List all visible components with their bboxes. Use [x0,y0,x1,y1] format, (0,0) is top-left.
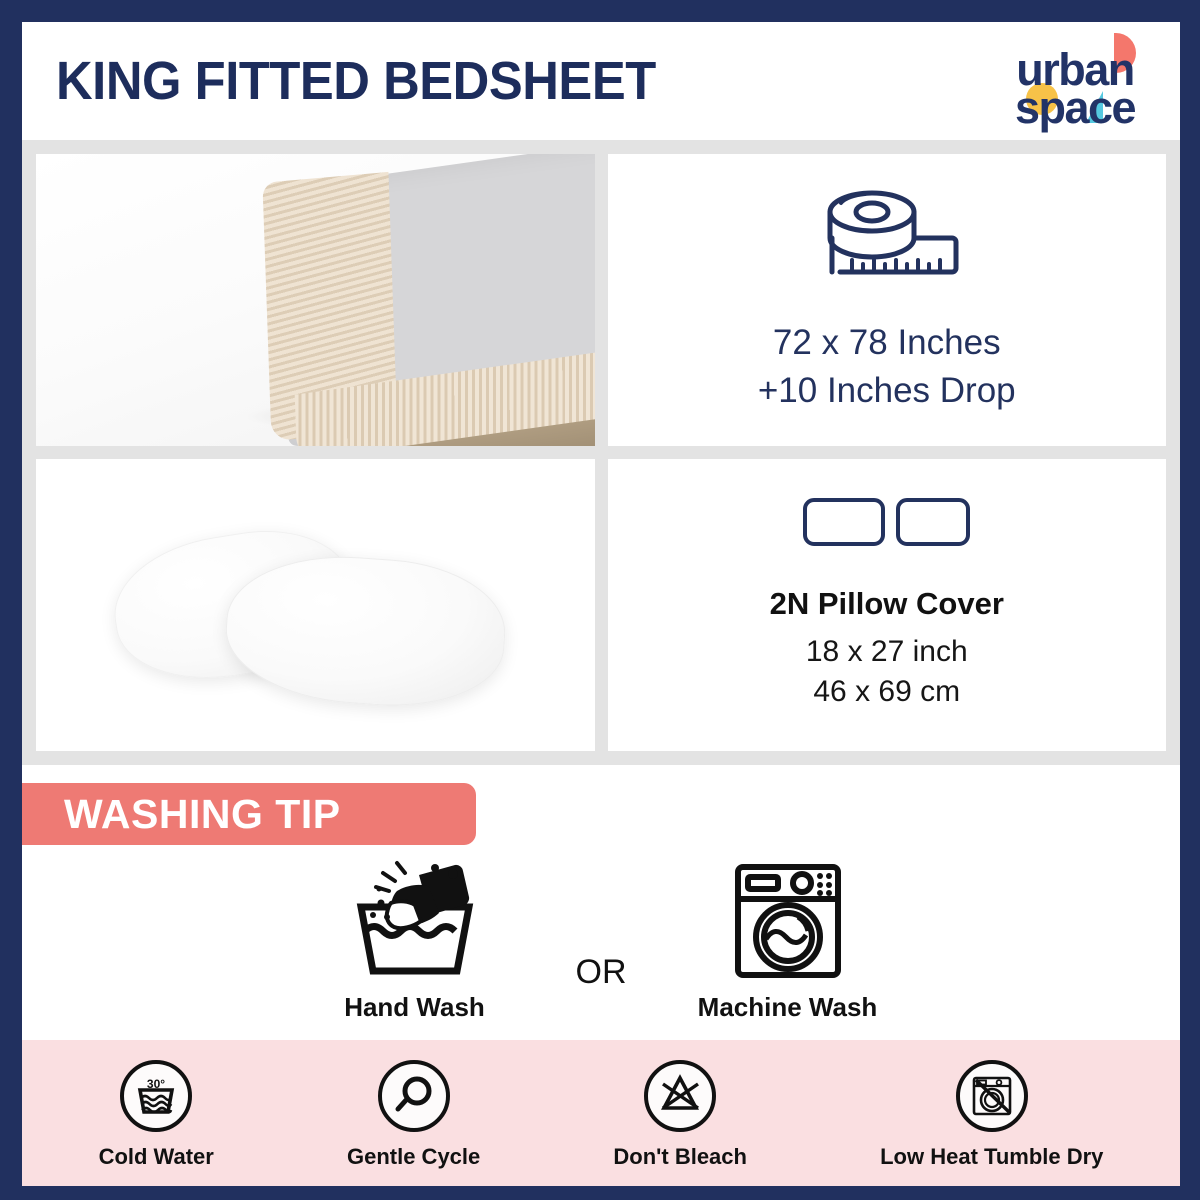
washing-tip-banner: WASHING TIP [22,783,476,845]
product-infographic: KING FITTED BEDSHEET urban space [0,0,1200,1200]
machine-wash-label: Machine Wash [698,992,878,1023]
washing-tip-section: WASHING TIP [22,765,1180,1040]
care-label-gentle-cycle: Gentle Cycle [347,1144,480,1170]
low-heat-tumble-dry-icon [954,1058,1030,1139]
pillow-front [221,549,510,714]
washing-tip-label: WASHING TIP [64,791,341,838]
measuring-tape-icon [812,186,962,295]
hand-wash-item: Hand Wash [280,859,550,1023]
product-grid: 72 x 78 Inches +10 Inches Drop 2N Pillow… [22,140,1180,765]
care-item-no-bleach: Don't Bleach [613,1058,747,1170]
pillow-rect-1 [803,498,885,546]
machine-wash-icon [724,859,852,988]
bedsheet-corner-image [36,154,595,446]
care-item-cold-water: 30° Cold Water [99,1058,214,1170]
care-instructions-strip: 30° Cold Water Gentle Cycle [22,1040,1180,1186]
pillow-cover-size-cm: 46 x 69 cm [813,672,960,712]
page-title: KING FITTED BEDSHEET [56,50,656,112]
pillows-photo-cell [36,459,595,751]
bedsheet-photo-cell [36,154,595,446]
logo-text-space: space [984,85,1166,130]
no-bleach-icon [642,1058,718,1139]
pillow-cover-spec-cell: 2N Pillow Cover 18 x 27 inch 46 x 69 cm [608,459,1167,751]
gentle-cycle-icon [376,1058,452,1139]
or-separator: OR [576,953,627,992]
pillow-cover-size-inch: 18 x 27 inch [806,632,968,672]
cold-water-icon: 30° [118,1058,194,1139]
size-line-1: 72 x 78 Inches [773,319,1001,366]
pillow-rect-2 [896,498,970,546]
two-pillow-rectangles-icon [803,498,970,546]
hand-wash-icon [335,859,495,988]
care-label-tumble-dry: Low Heat Tumble Dry [880,1144,1103,1170]
pillows-image [36,459,595,751]
care-item-tumble-dry: Low Heat Tumble Dry [880,1058,1103,1170]
machine-wash-item: Machine Wash [653,859,923,1023]
care-label-cold-water: Cold Water [99,1144,214,1170]
cold-water-temp: 30° [147,1077,165,1091]
mattress-illustration [279,154,594,446]
hand-wash-label: Hand Wash [344,992,485,1023]
header: KING FITTED BEDSHEET urban space [22,22,1180,140]
brand-logo: urban space [984,27,1166,135]
size-line-2: +10 Inches Drop [758,367,1016,414]
size-spec-cell: 72 x 78 Inches +10 Inches Drop [608,154,1167,446]
care-item-gentle-cycle: Gentle Cycle [347,1058,480,1170]
pillow-cover-title: 2N Pillow Cover [770,586,1004,622]
washing-methods-row: Hand Wash OR [22,845,1180,1040]
care-label-no-bleach: Don't Bleach [613,1144,747,1170]
